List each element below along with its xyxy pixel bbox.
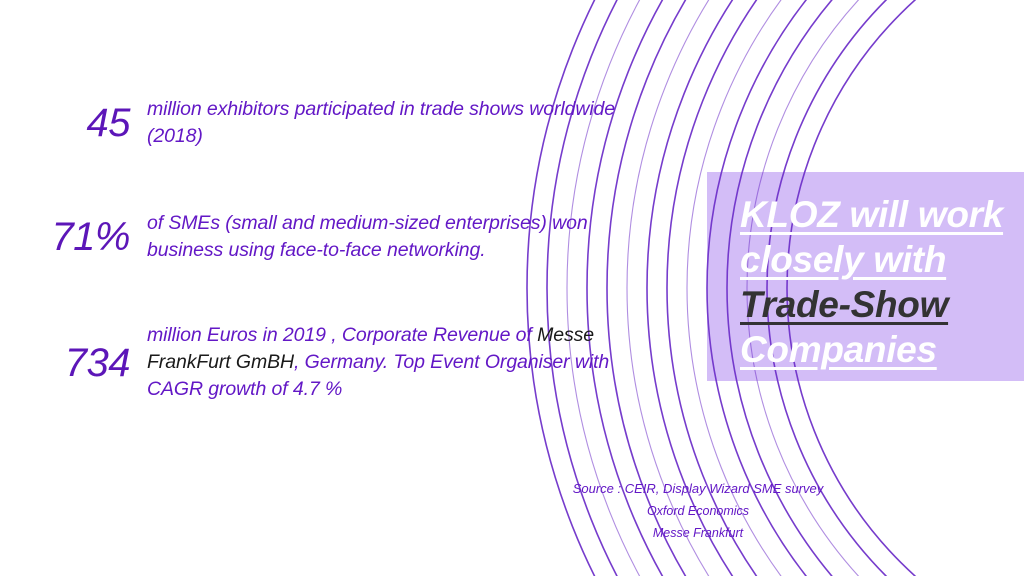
headline: KLOZ will work closely with Trade-Show C… [740,192,1024,372]
stat-number: 734 [40,341,130,385]
stat-row: 734 million Euros in 2019 , Corporate Re… [40,322,625,403]
headline-line-4: Companies [740,327,1024,372]
stat-description: million exhibitors participated in trade… [147,96,627,150]
stat-segment: million Euros in 2019 , Corporate Revenu… [147,324,537,346]
slide-canvas: KLOZ will work closely with Trade-Show C… [0,0,1024,576]
stat-number: 71% [40,215,130,259]
stat-segment: million exhibitors participated in trade… [147,98,615,147]
headline-line-3: Trade-Show [740,282,1024,327]
source-line: Oxford Economics [448,500,948,522]
stat-row: 45 million exhibitors participated in tr… [40,96,627,150]
stat-segment: of SMEs (small and medium-sized enterpri… [147,212,588,261]
source-credits: Source : CEIR, Display Wizard SME survey… [448,478,948,544]
stat-description: of SMEs (small and medium-sized enterpri… [147,210,632,264]
stat-description: million Euros in 2019 , Corporate Revenu… [147,322,625,403]
headline-line-1: KLOZ will work [740,192,1024,237]
headline-line-2: closely with [740,237,1024,282]
source-line: Source : CEIR, Display Wizard SME survey [448,478,948,500]
source-line: Messe Frankfurt [448,522,948,544]
stat-number: 45 [40,101,130,145]
stat-row: 71% of SMEs (small and medium-sized ente… [40,210,632,264]
